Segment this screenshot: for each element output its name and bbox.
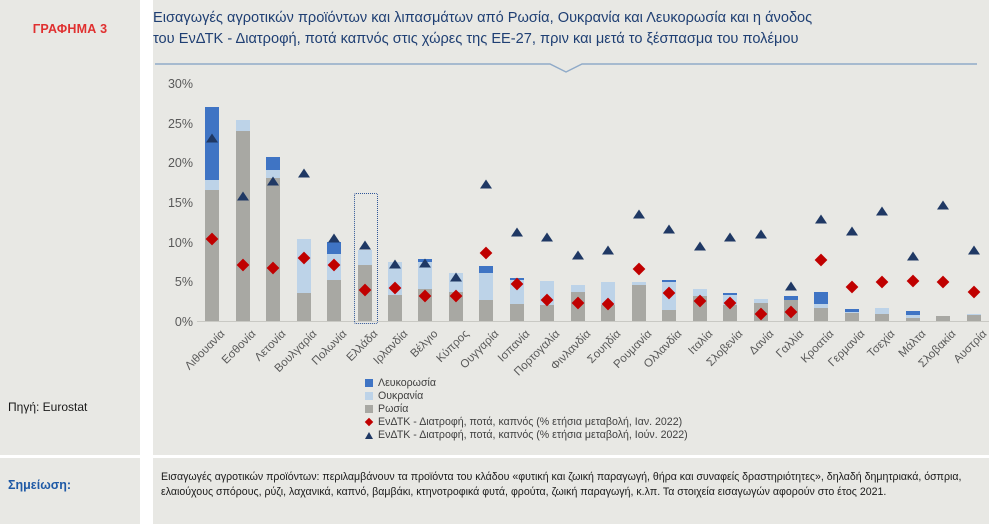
footnote-panel: Εισαγωγές αγροτικών προϊόντων: περιλαμβά… bbox=[153, 458, 989, 524]
triangle-marker bbox=[694, 242, 706, 251]
bar-segment-Ρωσία bbox=[510, 304, 524, 321]
bar-22[interactable] bbox=[845, 309, 859, 321]
legend-label: Λευκορωσία bbox=[378, 377, 436, 389]
triangle-marker bbox=[298, 169, 310, 178]
legend-triangle-icon bbox=[365, 431, 373, 439]
y-tick-label: 0% bbox=[175, 315, 193, 329]
legend-square-icon bbox=[365, 379, 373, 387]
chart-panel: Εισαγωγές αγροτικών προϊόντων και λιπασμ… bbox=[153, 0, 989, 455]
legend-diamond-icon bbox=[365, 418, 373, 426]
triangle-marker bbox=[907, 251, 919, 260]
legend-item[interactable]: ΕνΔΤΚ - Διατροφή, ποτά, καπνός (% ετήσια… bbox=[365, 415, 688, 428]
bar-segment-Λευκορωσία bbox=[266, 157, 280, 170]
bar-5[interactable] bbox=[327, 242, 341, 321]
bar-2[interactable] bbox=[236, 120, 250, 321]
bar-segment-Ρωσία bbox=[662, 310, 676, 321]
diamond-marker bbox=[876, 276, 889, 289]
bar-25[interactable] bbox=[936, 316, 950, 321]
bar-segment-Ρωσία bbox=[967, 315, 981, 321]
triangle-marker bbox=[328, 234, 340, 243]
triangle-marker bbox=[846, 227, 858, 236]
bar-segment-Λευκορωσία bbox=[784, 296, 798, 300]
bar-segment-Λευκορωσία bbox=[327, 242, 341, 254]
legend-square-icon bbox=[365, 405, 373, 413]
y-tick-label: 10% bbox=[168, 236, 193, 250]
bar-segment-Λευκορωσία bbox=[205, 107, 219, 180]
bar-23[interactable] bbox=[875, 308, 889, 321]
legend-label: Ρωσία bbox=[378, 403, 408, 415]
bar-segment-Ρωσία bbox=[845, 313, 859, 321]
legend-label: ΕνΔΤΚ - Διατροφή, ποτά, καπνός (% ετήσια… bbox=[378, 429, 688, 441]
slide-page: ΓΡΑΦΗΜΑ 3 Πηγή: Eurostat Σημείωση: Εισαγ… bbox=[0, 0, 989, 524]
triangle-marker bbox=[785, 282, 797, 291]
legend-label: Ουκρανία bbox=[378, 390, 423, 402]
chart-number-cell: ΓΡΑΦΗΜΑ 3 Πηγή: Eurostat bbox=[0, 0, 140, 455]
bar-segment-Ουκρανία bbox=[906, 315, 920, 317]
bar-segment-Λευκορωσία bbox=[814, 292, 828, 304]
bar-segment-Λευκορωσία bbox=[906, 311, 920, 316]
legend-label: ΕνΔΤΚ - Διατροφή, ποτά, καπνός (% ετήσια… bbox=[378, 416, 682, 428]
bar-segment-Ρωσία bbox=[479, 300, 493, 321]
triangle-marker bbox=[937, 201, 949, 210]
bar-segment-Ουκρανία bbox=[875, 308, 889, 314]
diamond-marker bbox=[937, 276, 950, 289]
bar-segment-Ουκρανία bbox=[205, 180, 219, 190]
bar-26[interactable] bbox=[967, 314, 981, 321]
legend-item[interactable]: Ουκρανία bbox=[365, 389, 688, 402]
legend-item[interactable]: Ρωσία bbox=[365, 402, 688, 415]
bar-segment-Ρωσία bbox=[297, 293, 311, 321]
bar-segment-Λευκορωσία bbox=[845, 309, 859, 312]
bar-segment-Λευκορωσία bbox=[723, 293, 737, 295]
triangle-marker bbox=[480, 179, 492, 188]
triangle-marker bbox=[724, 232, 736, 241]
triangle-marker bbox=[267, 176, 279, 185]
bar-segment-Ουκρανία bbox=[967, 314, 981, 316]
diamond-marker bbox=[846, 280, 859, 293]
bar-21[interactable] bbox=[814, 292, 828, 321]
bar-segment-Ρωσία bbox=[540, 305, 554, 321]
y-tick-label: 5% bbox=[175, 275, 193, 289]
triangle-marker bbox=[968, 246, 980, 255]
bar-segment-Ρωσία bbox=[906, 318, 920, 321]
bar-segment-Ουκρανία bbox=[479, 273, 493, 300]
triangle-marker bbox=[389, 259, 401, 268]
bar-24[interactable] bbox=[906, 311, 920, 321]
note-label-cell: Σημείωση: bbox=[0, 458, 140, 524]
triangle-marker bbox=[815, 215, 827, 224]
triangle-marker bbox=[572, 251, 584, 260]
column-gap bbox=[141, 0, 153, 524]
bar-segment-Ουκρανία bbox=[754, 299, 768, 303]
chart-plot: 0%5%10%15%20%25%30% ΛιθουανίαΕσθονίαΛετο… bbox=[153, 72, 989, 322]
bar-segment-Λευκορωσία bbox=[479, 266, 493, 273]
diamond-marker bbox=[906, 275, 919, 288]
highlight-box-greece bbox=[354, 193, 378, 324]
chart-legend: ΛευκορωσίαΟυκρανίαΡωσίαΕνΔΤΚ - Διατροφή,… bbox=[365, 376, 688, 441]
triangle-marker bbox=[633, 209, 645, 218]
legend-item[interactable]: Λευκορωσία bbox=[365, 376, 688, 389]
bar-segment-Λευκορωσία bbox=[662, 280, 676, 282]
triangle-marker bbox=[237, 192, 249, 201]
y-tick-label: 30% bbox=[168, 77, 193, 91]
title-line-2: του ΕνΔΤΚ - Διατροφή, ποτά καπνός στις χ… bbox=[153, 29, 979, 50]
diamond-marker bbox=[815, 254, 828, 267]
triangle-marker bbox=[511, 228, 523, 237]
plot-area: ΛιθουανίαΕσθονίαΛετονίαΒουλγαρίαΠολωνίαΕ… bbox=[197, 72, 989, 322]
diamond-marker bbox=[480, 246, 493, 259]
footnote-text: Εισαγωγές αγροτικών προϊόντων: περιλαμβά… bbox=[161, 470, 979, 499]
triangle-marker bbox=[206, 133, 218, 142]
bar-segment-Ρωσία bbox=[236, 131, 250, 321]
bar-segment-Ουκρανία bbox=[297, 239, 311, 294]
bar-segment-Ουκρανία bbox=[236, 120, 250, 130]
triangle-marker bbox=[541, 232, 553, 241]
triangle-marker bbox=[450, 272, 462, 281]
y-tick-label: 20% bbox=[168, 156, 193, 170]
bar-segment-Ουκρανία bbox=[571, 285, 585, 293]
bar-15[interactable] bbox=[632, 282, 646, 321]
bar-segment-Ουκρανία bbox=[814, 304, 828, 308]
bar-segment-Ουκρανία bbox=[632, 282, 646, 284]
diamond-marker bbox=[632, 263, 645, 276]
bar-segment-Ρωσία bbox=[205, 190, 219, 321]
triangle-marker bbox=[876, 207, 888, 216]
x-axis-line bbox=[197, 321, 989, 322]
note-label: Σημείωση: bbox=[8, 478, 71, 492]
bar-segment-Ρωσία bbox=[327, 280, 341, 321]
legend-item[interactable]: ΕνΔΤΚ - Διατροφή, ποτά, καπνός (% ετήσια… bbox=[365, 428, 688, 441]
bar-segment-Ρωσία bbox=[388, 295, 402, 321]
triangle-marker bbox=[663, 224, 675, 233]
title-line-1: Εισαγωγές αγροτικών προϊόντων και λιπασμ… bbox=[153, 8, 979, 29]
bar-segment-Ρωσία bbox=[936, 316, 950, 321]
page-title: Εισαγωγές αγροτικών προϊόντων και λιπασμ… bbox=[153, 8, 979, 50]
triangle-marker bbox=[419, 259, 431, 268]
bar-segment-Ρωσία bbox=[632, 285, 646, 321]
diamond-marker bbox=[967, 286, 980, 299]
bar-segment-Ρωσία bbox=[875, 314, 889, 321]
legend-square-icon bbox=[365, 392, 373, 400]
bar-segment-Ρωσία bbox=[266, 178, 280, 321]
triangle-marker bbox=[602, 245, 614, 254]
chart-number-label: ΓΡΑΦΗΜΑ 3 bbox=[0, 22, 140, 36]
bar-segment-Ρωσία bbox=[814, 308, 828, 321]
source-label: Πηγή: Eurostat bbox=[8, 400, 140, 414]
triangle-marker bbox=[755, 229, 767, 238]
y-tick-label: 15% bbox=[168, 196, 193, 210]
bar-10[interactable] bbox=[479, 266, 493, 321]
y-tick-label: 25% bbox=[168, 117, 193, 131]
y-axis-labels: 0%5%10%15%20%25%30% bbox=[153, 72, 193, 322]
